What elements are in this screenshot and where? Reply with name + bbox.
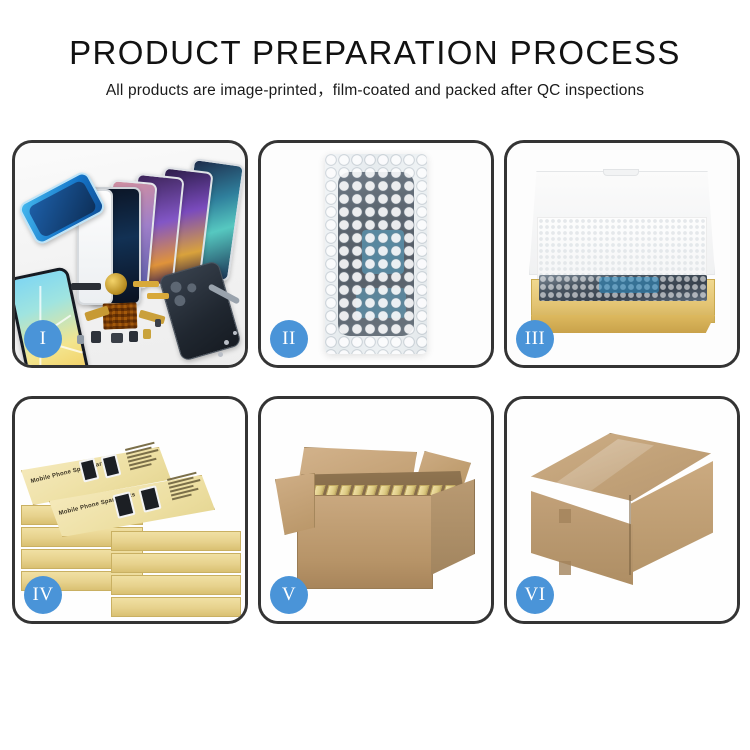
step-badge-4: IV [24, 576, 62, 614]
product-preparation-infographic: PRODUCT PREPARATION PROCESS All products… [0, 0, 750, 750]
screw-3 [218, 352, 223, 357]
small-part-6 [155, 319, 161, 327]
small-part-1 [91, 331, 101, 343]
panel-step-5: V [258, 396, 494, 624]
carton-vertical-edge [629, 495, 631, 575]
stacked-box-r1 [111, 531, 241, 551]
bubble-wrap-sheet [325, 154, 427, 354]
chip-component [103, 302, 138, 329]
page-subtitle: All products are image-printed，film-coat… [0, 80, 750, 102]
header: PRODUCT PREPARATION PROCESS All products… [0, 0, 750, 102]
camera-lens-1 [169, 280, 183, 294]
carton-handle-tab-top [559, 509, 571, 523]
screw-1 [224, 340, 229, 345]
box-lid-tab [603, 169, 639, 176]
panel-step-6: VI [504, 396, 740, 624]
panel-step-4: Mobile Phone Spare Parts Mobile Phone Sp… [12, 396, 248, 624]
small-part-2 [111, 333, 123, 343]
flex-cable-1 [71, 283, 101, 290]
panel-step-3: III [504, 140, 740, 368]
step-badge-5: V [270, 576, 308, 614]
camera-lens-3 [186, 282, 197, 293]
carton-flap-left [275, 473, 315, 535]
carton-handle-tab-bottom [559, 561, 571, 575]
panel-step-1: I [12, 140, 248, 368]
small-part-5 [77, 335, 84, 344]
flex-cable-3 [147, 293, 169, 299]
bubble-texture [325, 154, 427, 354]
panel-step-2: II [258, 140, 494, 368]
speaker-coil-part [105, 273, 127, 295]
stacked-box-r4 [111, 597, 241, 617]
step-badge-1: I [24, 320, 62, 358]
small-part-3 [129, 331, 138, 342]
carton-front-face [297, 495, 433, 589]
stacked-box-r3 [111, 575, 241, 595]
small-part-4 [143, 329, 151, 339]
sealed-carton-front-face [531, 491, 633, 585]
step-badge-3: III [516, 320, 554, 358]
step-badge-6: VI [516, 576, 554, 614]
page-title: PRODUCT PREPARATION PROCESS [0, 33, 750, 73]
carton-side-face [431, 479, 475, 575]
step-badge-2: II [270, 320, 308, 358]
camera-lens-2 [173, 294, 187, 308]
flex-cable-2 [133, 281, 159, 287]
kraft-box-tray-front [531, 315, 715, 333]
flex-cable-5 [138, 310, 165, 325]
packed-screen-blue-tint [599, 277, 659, 293]
screw-2 [233, 331, 237, 335]
process-step-grid: I II [12, 140, 740, 740]
stacked-box-r2 [111, 553, 241, 573]
